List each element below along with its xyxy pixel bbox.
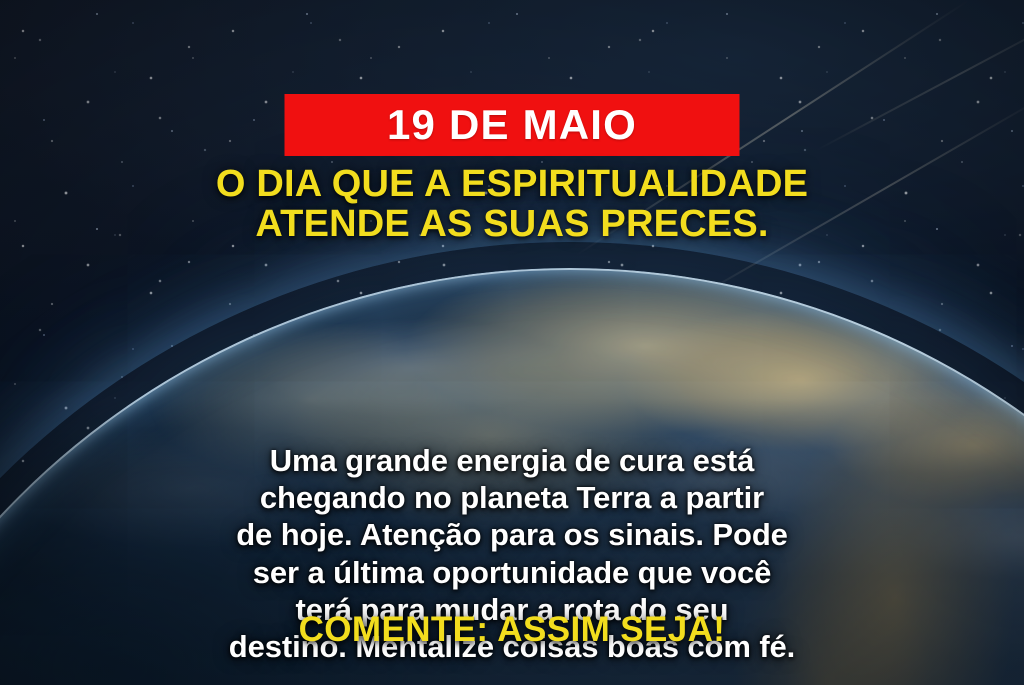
date-banner-label: 19 DE MAIO	[387, 104, 637, 146]
body-copy-line-1: Uma grande energia de cura está	[62, 442, 962, 479]
poster-content: 19 DE MAIO O DIA QUE A ESPIRITUALIDADE A…	[0, 0, 1024, 685]
headline-line-1: O DIA QUE A ESPIRITUALIDADE	[40, 164, 984, 204]
headline: O DIA QUE A ESPIRITUALIDADE ATENDE AS SU…	[0, 164, 1024, 245]
headline-line-2: ATENDE AS SUAS PRECES.	[40, 204, 984, 244]
date-banner: 19 DE MAIO	[285, 94, 740, 156]
body-copy-line-4: ser a última oportunidade que você	[62, 554, 962, 591]
body-copy-line-3: de hoje. Atenção para os sinais. Pode	[62, 516, 962, 553]
poster-canvas: 19 DE MAIO O DIA QUE A ESPIRITUALIDADE A…	[0, 0, 1024, 685]
body-copy-line-2: chegando no planeta Terra a partir	[62, 479, 962, 516]
call-to-action-text: COMENTE: ASSIM SEJA!	[0, 612, 1024, 647]
